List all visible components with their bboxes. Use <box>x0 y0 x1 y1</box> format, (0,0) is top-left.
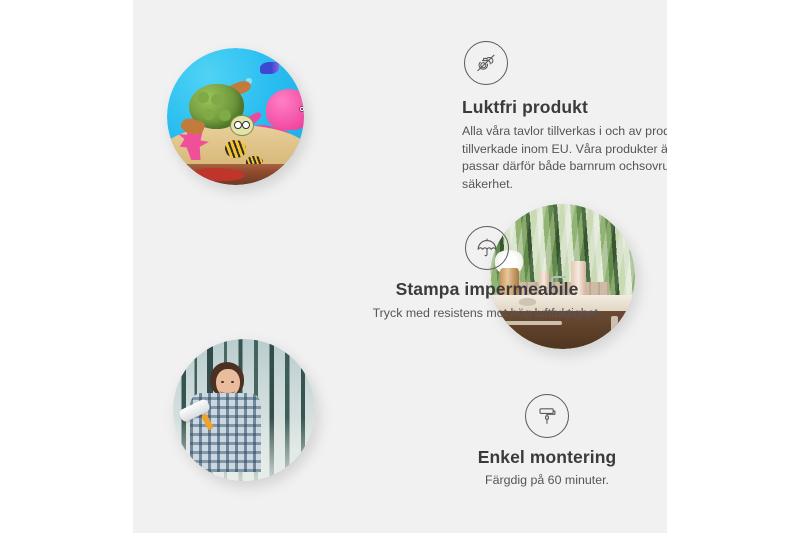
feature-title: Enkel montering <box>430 447 664 468</box>
octopus-head <box>266 89 304 130</box>
feature-title: Stampa impermeabile <box>341 279 633 300</box>
feature-easy-mounting: Enkel montering Färgdig på 60 minuter. <box>430 394 664 490</box>
seabed-strip <box>167 164 304 185</box>
infographic-panel: Luktfri produkt Alla våra tavlor tillver… <box>133 0 667 533</box>
octopus-eye <box>299 106 304 113</box>
feature-description: Tryck med resistens mot hög luftfuktighe… <box>341 305 633 323</box>
infographic-screenshot: Luktfri produkt Alla våra tavlor tillver… <box>0 0 800 533</box>
no-perfume-icon <box>464 41 508 85</box>
feature-waterproof-print: Stampa impermeabile Tryck med resistens … <box>341 226 633 323</box>
yellow-fish-icon <box>225 140 247 158</box>
woman-paint-roller-forest-photo <box>173 339 315 481</box>
feature-title: Luktfri produkt <box>462 97 667 118</box>
feature-odour-free: Luktfri produkt Alla våra tavlor tillver… <box>462 41 667 193</box>
paint-roller-icon <box>525 394 569 438</box>
underwater-cartoon-photo <box>167 48 304 185</box>
feature-description: Färgdig på 60 minuter. <box>430 472 664 490</box>
umbrella-icon <box>465 226 509 270</box>
feature-description: Alla våra tavlor tillverkas i och av pro… <box>462 123 667 193</box>
